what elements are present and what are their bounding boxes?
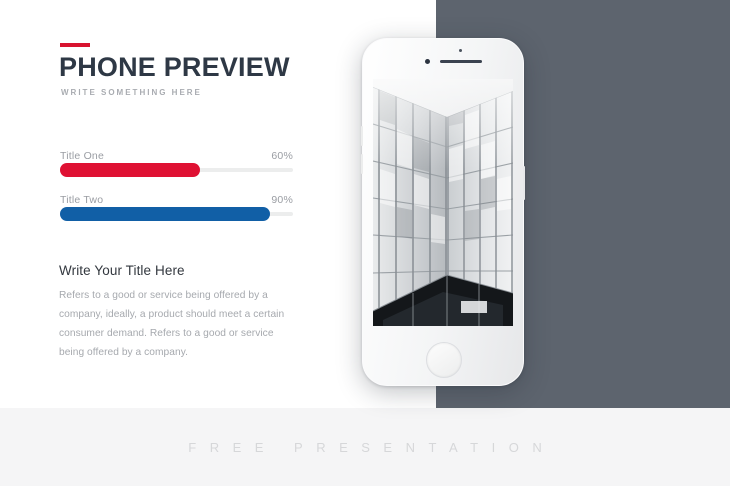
progress-bar-item: Title Two 90% xyxy=(60,194,293,216)
footer-wordmark: FREE PRESENTATION xyxy=(0,408,730,486)
progress-bar-track xyxy=(60,168,293,172)
phone-power-button-icon xyxy=(523,166,525,200)
body-heading: Write Your Title Here xyxy=(59,263,185,278)
phone-screen xyxy=(373,79,513,326)
progress-bar-label: Title One xyxy=(60,150,104,162)
progress-bar-list: Title One 60% Title Two 90% xyxy=(60,150,293,216)
progress-bar-percent: 60% xyxy=(271,150,293,162)
progress-bar-item: Title One 60% xyxy=(60,150,293,172)
phone-volume-down-button-icon xyxy=(361,154,363,174)
progress-bar-percent: 90% xyxy=(271,194,293,206)
body-paragraph: Refers to a good or service being offere… xyxy=(59,287,287,363)
accent-rule xyxy=(60,43,90,47)
phone-volume-up-button-icon xyxy=(361,126,363,146)
building-photo xyxy=(373,79,513,326)
phone-home-button[interactable] xyxy=(426,342,462,378)
page-title: PHONE PREVIEW xyxy=(59,53,290,81)
progress-bar-header: Title Two 90% xyxy=(60,194,293,206)
page-subtitle: WRITE SOMETHING HERE xyxy=(61,88,202,97)
presentation-slide: PHONE PREVIEW WRITE SOMETHING HERE Title… xyxy=(0,0,730,486)
phone-front-camera-icon xyxy=(425,59,430,64)
progress-bar-header: Title One 60% xyxy=(60,150,293,162)
progress-bar-fill xyxy=(60,163,200,177)
progress-bar-label: Title Two xyxy=(60,194,103,206)
phone-mockup xyxy=(362,38,524,386)
progress-bar-track xyxy=(60,212,293,216)
phone-earpiece-speaker-icon xyxy=(440,60,482,63)
phone-sensor-icon xyxy=(459,49,462,52)
progress-bar-fill xyxy=(60,207,270,221)
